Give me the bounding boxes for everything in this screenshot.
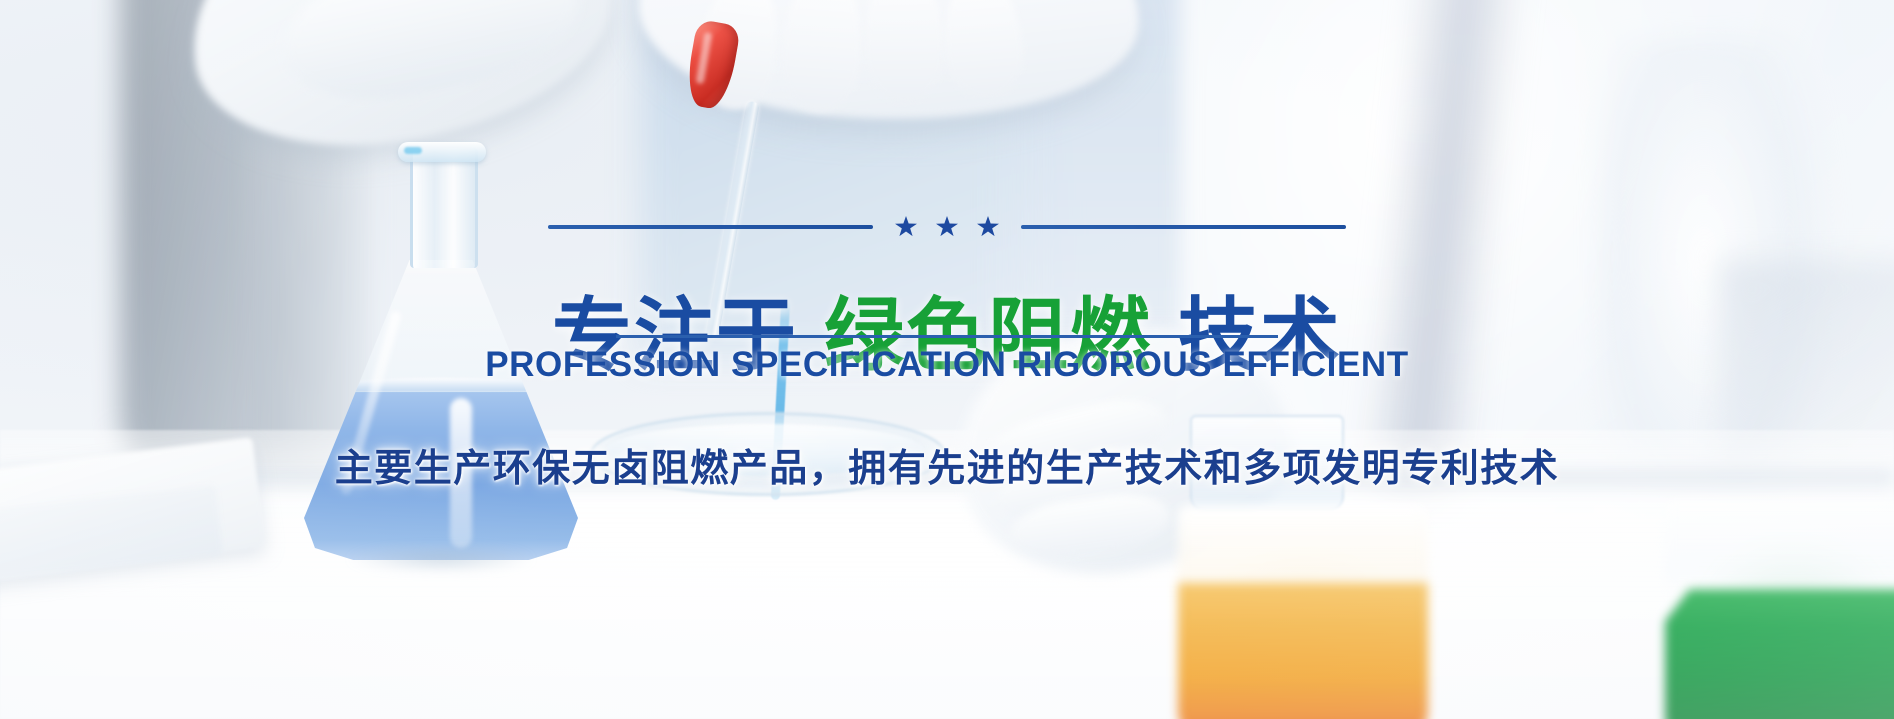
title-underline	[616, 335, 1278, 338]
divider-rule-left	[548, 225, 873, 229]
banner-tagline: 主要生产环保无卤阻燃产品，拥有先进的生产技术和多项发明专利技术	[0, 437, 1894, 492]
flask-shadow	[310, 540, 572, 578]
star-group	[873, 216, 1021, 237]
orange-liquid	[1178, 583, 1428, 719]
orange-beaker	[1178, 505, 1428, 719]
decorative-divider	[0, 216, 1894, 237]
glove-finger	[863, 0, 945, 103]
hero-banner: 专注于绿色阻燃技术 PROFESSION SPECIFICATION RIGOR…	[0, 0, 1894, 719]
star-icon	[977, 216, 999, 237]
star-icon	[936, 216, 958, 237]
star-icon	[895, 216, 917, 237]
flask-lip-residue	[404, 147, 422, 154]
orange-beaker-rim	[1178, 505, 1428, 583]
divider-rule-right	[1021, 225, 1346, 229]
green-liquid	[1665, 589, 1894, 719]
green-flask	[1665, 500, 1894, 719]
banner-subtitle: PROFESSION SPECIFICATION RIGOROUS EFFICI…	[0, 345, 1894, 385]
flask-neck	[410, 148, 478, 268]
